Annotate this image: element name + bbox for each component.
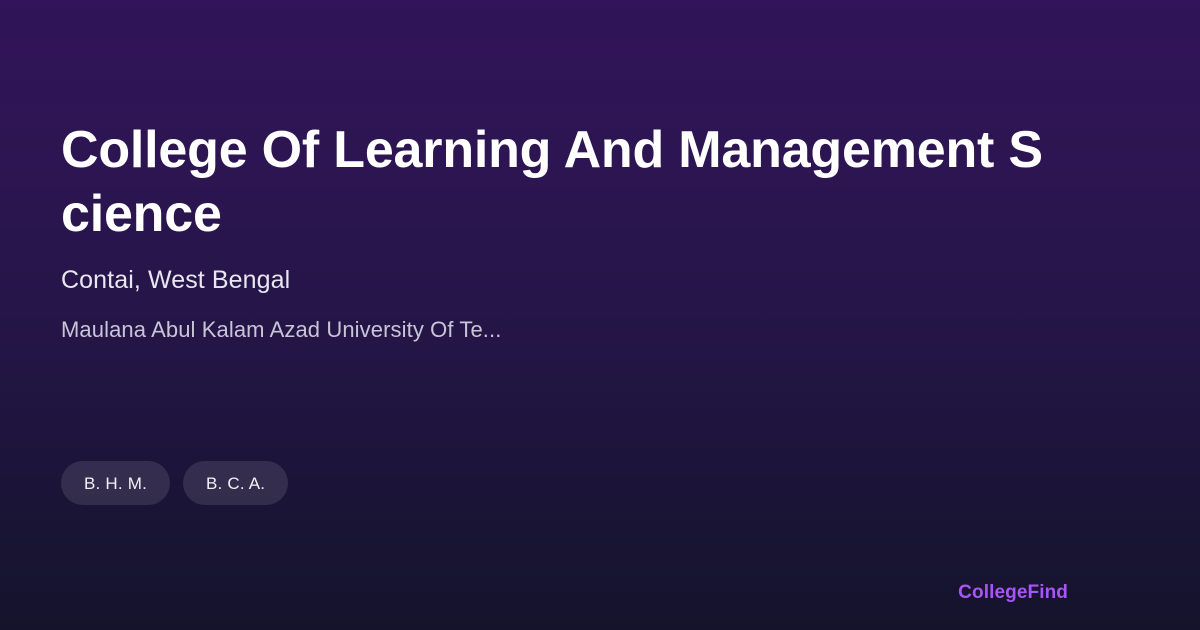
- college-location: Contai, West Bengal: [61, 246, 1071, 296]
- brand-logo-collegefind: CollegeFind: [958, 582, 1068, 604]
- course-tag-list: B. H. M. B. C. A.: [61, 461, 288, 505]
- course-tag-bhm: B. H. M.: [61, 461, 170, 505]
- course-tag-bca: B. C. A.: [183, 461, 288, 505]
- page-title: College Of Learning And Management Scien…: [61, 118, 1069, 246]
- card-content: College Of Learning And Management Scien…: [61, 118, 1071, 344]
- college-affiliation: Maulana Abul Kalam Azad University Of Te…: [61, 296, 621, 344]
- college-og-card: College Of Learning And Management Scien…: [0, 0, 1200, 630]
